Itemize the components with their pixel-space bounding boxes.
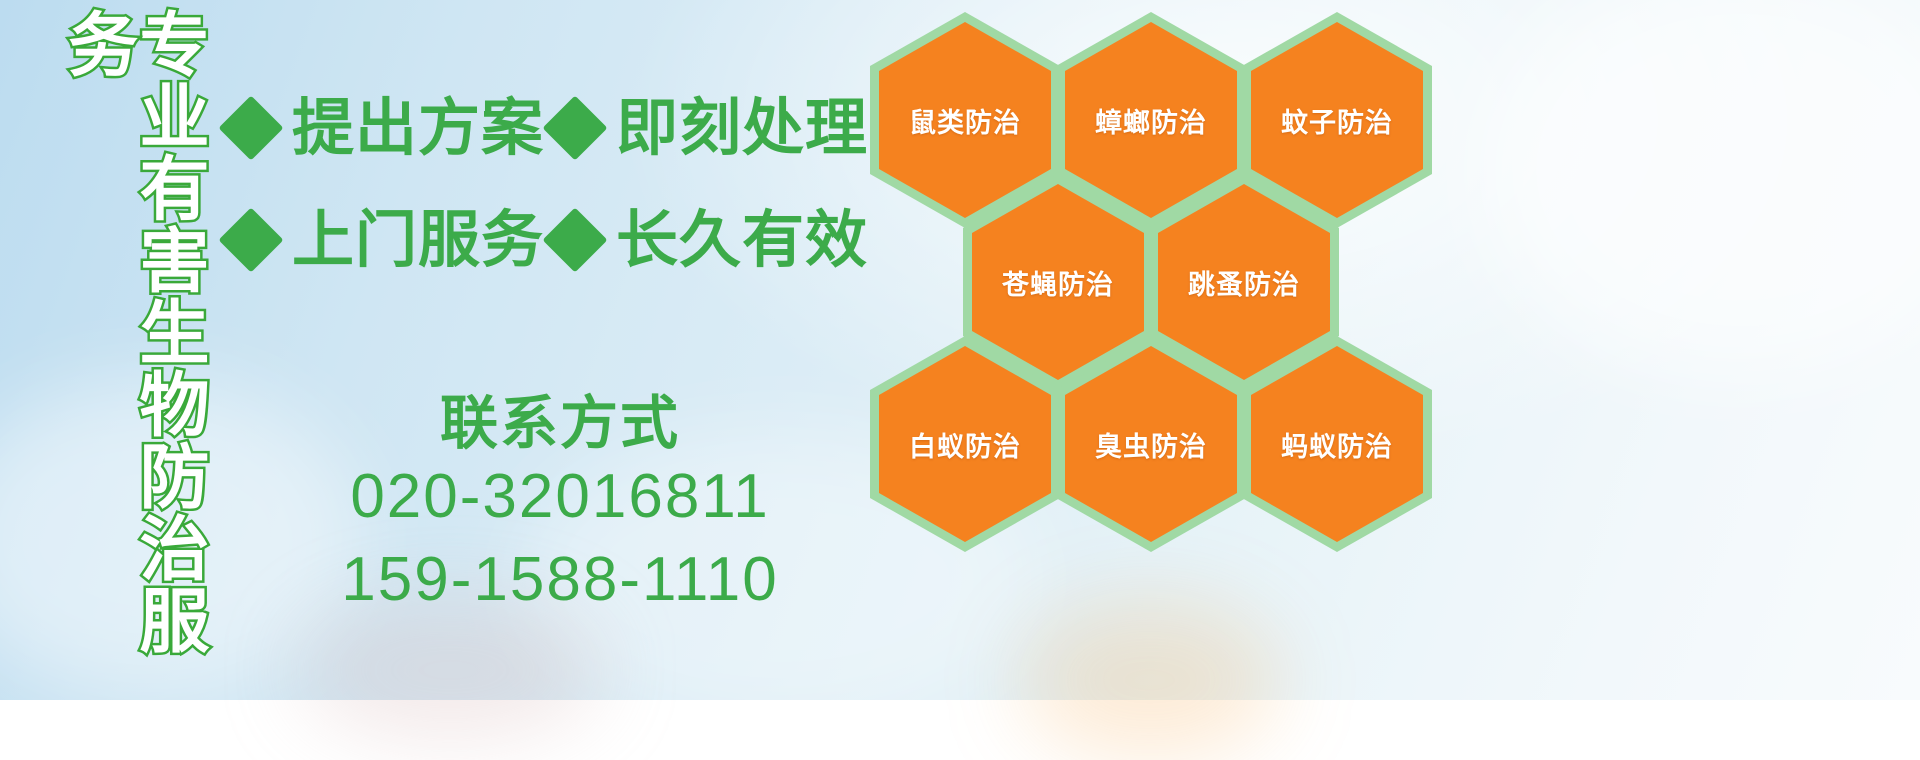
diamond-bullet-icon bbox=[218, 95, 283, 160]
service-hex-label: 臭虫防治 bbox=[1095, 425, 1207, 464]
feature-list: 提出方案 即刻处理 上门服务 长久有效 bbox=[228, 72, 868, 296]
contact-title: 联系方式 bbox=[300, 392, 820, 455]
feature-item: 提出方案 bbox=[228, 97, 544, 159]
service-honeycomb: 鼠类防治 蟑螂防治 蚊子防治 苍蝇防治 跳蚤防治 白蚁防治 臭虫防治 bbox=[860, 0, 1460, 700]
phone-number-mobile[interactable]: 159-1588-1110 bbox=[300, 538, 820, 622]
service-hex-label: 苍蝇防治 bbox=[1002, 263, 1114, 302]
feature-label: 上门服务 bbox=[292, 209, 544, 271]
feature-item: 即刻处理 bbox=[552, 97, 868, 159]
feature-row: 上门服务 长久有效 bbox=[228, 184, 868, 296]
feature-item: 长久有效 bbox=[552, 209, 868, 271]
feature-label: 长久有效 bbox=[616, 209, 868, 271]
feature-label: 即刻处理 bbox=[616, 97, 868, 159]
vertical-slogan-text: 专业有害生物防治服务 bbox=[108, 8, 204, 700]
diamond-bullet-icon bbox=[542, 95, 607, 160]
service-hex-label: 蟑螂防治 bbox=[1095, 101, 1207, 140]
service-hex-label: 跳蚤防治 bbox=[1188, 263, 1300, 302]
diamond-bullet-icon bbox=[218, 207, 283, 272]
service-hex-label: 鼠类防治 bbox=[909, 101, 1021, 140]
feature-row: 提出方案 即刻处理 bbox=[228, 72, 868, 184]
background-highlight-blob bbox=[1480, 0, 1920, 380]
diamond-bullet-icon bbox=[542, 207, 607, 272]
service-hex-label: 蚊子防治 bbox=[1281, 101, 1393, 140]
feature-label: 提出方案 bbox=[292, 97, 544, 159]
feature-item: 上门服务 bbox=[228, 209, 544, 271]
contact-block: 联系方式 020-32016811 159-1588-1110 bbox=[300, 392, 820, 622]
promotional-banner: 专业有害生物防治服务 提出方案 即刻处理 上门服务 长久有效 bbox=[0, 0, 1920, 700]
phone-number-landline[interactable]: 020-32016811 bbox=[300, 455, 820, 539]
service-hex-label: 蚂蚁防治 bbox=[1281, 425, 1393, 464]
service-hex-label: 白蚁防治 bbox=[909, 425, 1021, 464]
